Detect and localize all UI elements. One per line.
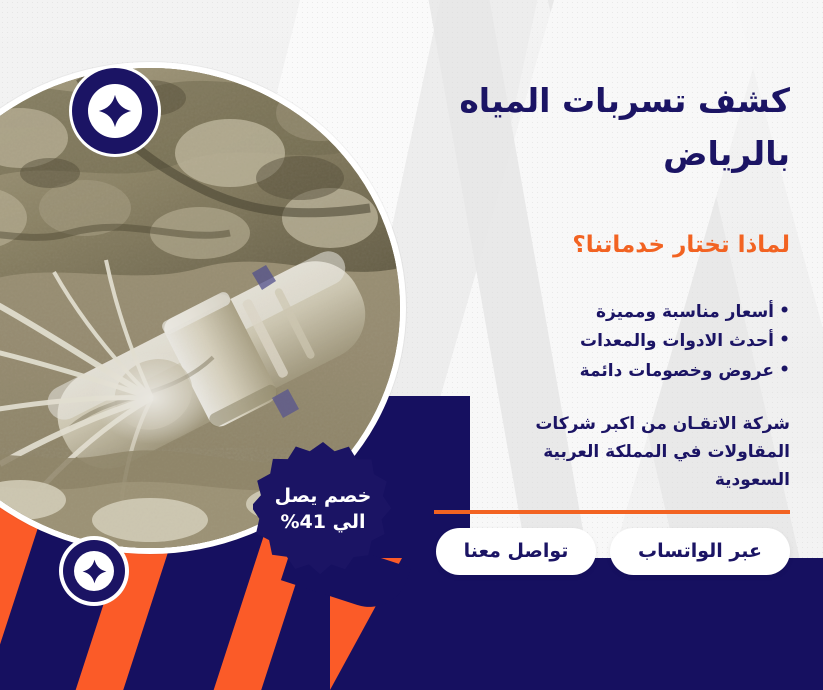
feature-item: أسعار مناسبة ومميزة [390,298,790,327]
brand-logo-secondary[interactable] [63,540,125,602]
section-subtitle: لماذا تختار خدماتنا؟ [390,232,790,258]
orange-divider [434,510,790,514]
page-title-line-1: كشف تسربات المياه [390,74,790,127]
company-blurb: شركة الاتقـان من اكبر شركات المقاولات في… [505,410,790,495]
content-column: كشف تسربات المياه بالرياض لماذا تختار خد… [390,0,790,690]
feature-item: أحدث الادوات والمعدات [390,327,790,356]
brand-logo[interactable] [72,68,158,154]
discount-badge: خصم يصل الي 41% [253,440,393,580]
poster-canvas: خصم يصل الي 41% كشف تسربات المياه بالريا… [0,0,823,690]
page-title-line-2: بالرياض [390,127,790,180]
feature-item: عروض وخصومات دائمة [390,357,790,386]
four-point-star-sparkle-icon [98,94,132,128]
page-title: كشف تسربات المياه بالرياض [390,74,790,181]
features-list: أسعار مناسبة ومميزة أحدث الادوات والمعدا… [390,298,790,386]
brand-logo-secondary-inner [74,551,114,591]
contact-button[interactable]: تواصل معنا [436,528,596,575]
brand-logo-inner [88,84,142,138]
whatsapp-button[interactable]: عبر الواتساب [610,528,790,575]
discount-line-2: الي 41% [267,510,379,536]
cta-row: عبر الواتساب تواصل معنا [436,528,790,575]
discount-line-1: خصم يصل [267,484,379,510]
discount-badge-text: خصم يصل الي 41% [267,484,379,535]
four-point-star-sparkle-icon [82,559,107,584]
